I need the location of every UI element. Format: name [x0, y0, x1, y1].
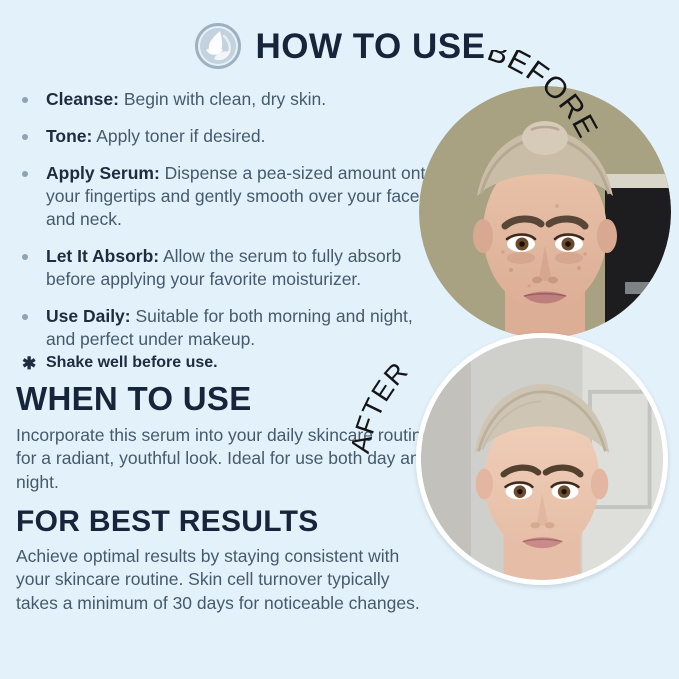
step-label: Let It Absorb:	[46, 246, 159, 266]
step-label: Cleanse:	[46, 89, 119, 109]
usage-steps-list: Cleanse: Begin with clean, dry skin. Ton…	[16, 88, 436, 365]
section-heading: WHEN TO USE	[16, 382, 436, 417]
section-body: Incorporate this serum into your daily s…	[16, 424, 436, 495]
bullet-dot-icon	[22, 134, 28, 140]
list-item: Let It Absorb: Allow the serum to fully …	[16, 245, 436, 291]
step-label: Use Daily:	[46, 306, 131, 326]
after-photo	[416, 333, 668, 585]
bullet-dot-icon	[22, 97, 28, 103]
shake-well-note: ✱ Shake well before use.	[16, 352, 446, 374]
bullet-dot-icon	[22, 254, 28, 260]
section-when-to-use: WHEN TO USE Incorporate this serum into …	[16, 382, 436, 494]
step-text: Apply toner if desired.	[92, 126, 265, 146]
bullet-dot-icon	[22, 314, 28, 320]
before-photo	[419, 86, 671, 338]
section-body: Achieve optimal results by staying consi…	[16, 545, 436, 616]
droplet-leaf-circle-logo-icon	[194, 22, 242, 70]
infographic-page: HOW TO USE Cleanse: Begin with clean, dr…	[0, 0, 679, 679]
step-text: Begin with clean, dry skin.	[119, 89, 326, 109]
list-item: Tone: Apply toner if desired.	[16, 125, 436, 148]
list-item: Use Daily: Suitable for both morning and…	[16, 305, 436, 351]
step-label: Apply Serum:	[46, 163, 160, 183]
page-title: HOW TO USE	[256, 29, 486, 64]
bullet-dot-icon	[22, 171, 28, 177]
asterisk-icon: ✱	[22, 353, 36, 375]
step-label: Tone:	[46, 126, 92, 146]
section-heading: FOR BEST RESULTS	[16, 506, 436, 538]
header: HOW TO USE	[0, 22, 679, 70]
list-item: Cleanse: Begin with clean, dry skin.	[16, 88, 436, 111]
section-for-best-results: FOR BEST RESULTS Achieve optimal results…	[16, 506, 436, 615]
list-item: Apply Serum: Dispense a pea-sized amount…	[16, 162, 436, 231]
note-text: Shake well before use.	[46, 354, 218, 371]
